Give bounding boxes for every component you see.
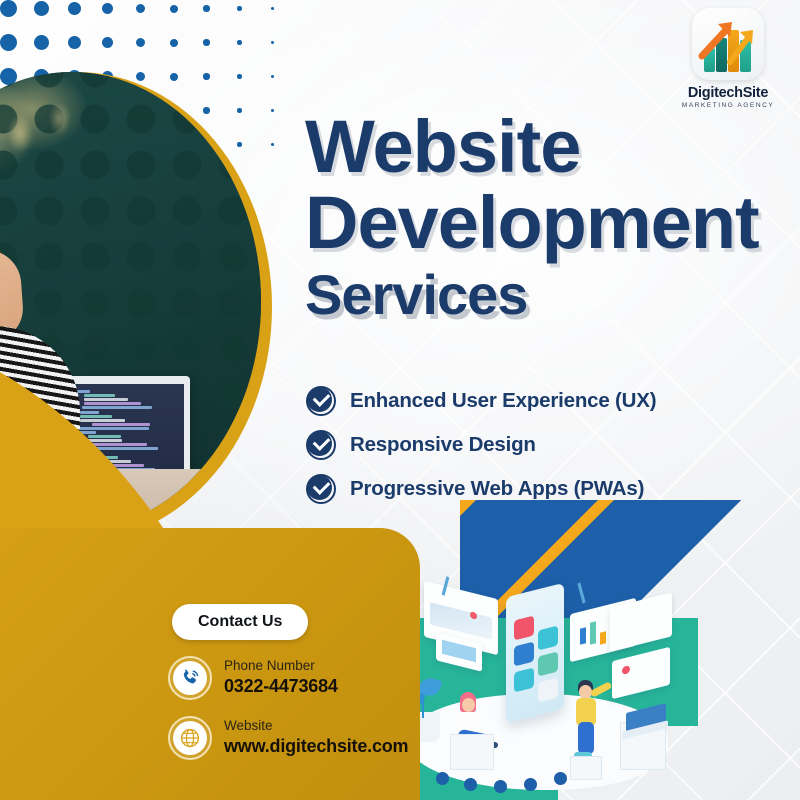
decorative-dot <box>136 38 146 48</box>
decorative-dot <box>271 7 274 10</box>
illustration-dashboard-bar-c <box>600 631 606 644</box>
photo-code-line <box>80 415 112 418</box>
illustration-floor-dot <box>494 780 507 793</box>
decorative-dot <box>136 4 146 14</box>
isometric-web-development-illustration <box>398 566 698 800</box>
decorative-dot <box>34 35 49 50</box>
website-value: www.digitechsite.com <box>224 735 408 758</box>
photo-ceiling-lights <box>0 80 88 200</box>
growth-chart-arrows-icon <box>692 8 764 80</box>
contact-row-website[interactable]: Website www.digitechsite.com <box>168 716 408 760</box>
illustration-man-platform <box>570 756 602 780</box>
decorative-dot <box>34 1 49 16</box>
brand-logo: DigitechSite MARKETING AGENCY <box>672 8 784 109</box>
decorative-dot <box>203 5 209 11</box>
feature-list: Enhanced User Experience (UX) Responsive… <box>306 386 736 518</box>
photo-code-line <box>80 419 125 422</box>
photo-code-line <box>92 423 150 426</box>
page-title: Website Development Services <box>305 112 785 322</box>
decorative-dot <box>0 34 17 51</box>
list-item: Responsive Design <box>306 430 736 460</box>
decorative-dot <box>102 37 114 49</box>
headline-line-3: Services <box>305 269 785 322</box>
headline-line-2: Development <box>305 188 785 258</box>
illustration-plant-stem <box>422 700 424 718</box>
decorative-dot <box>102 3 114 15</box>
decorative-dot <box>237 6 241 10</box>
decorative-dot <box>271 41 274 44</box>
phone-value: 0322-4473684 <box>224 675 338 698</box>
contact-row-phone[interactable]: Phone Number 0322-4473684 <box>168 656 338 700</box>
check-circle-icon <box>306 430 336 460</box>
brand-name: DigitechSite <box>672 85 784 101</box>
photo-code-line <box>88 443 147 446</box>
photo-code-line <box>88 435 121 438</box>
website-label: Website <box>224 718 408 735</box>
headline-line-1: Website <box>305 112 785 182</box>
decorative-dot <box>0 0 17 17</box>
contact-us-badge[interactable]: Contact Us <box>172 604 308 640</box>
check-circle-icon <box>306 386 336 416</box>
logo-arrows-icon <box>692 8 764 80</box>
illustration-dashboard-bar-b <box>590 621 596 644</box>
brand-tagline: MARKETING AGENCY <box>672 102 784 109</box>
decorative-dot <box>170 5 178 13</box>
photo-code-line <box>84 398 128 401</box>
check-circle-icon <box>306 474 336 504</box>
illustration-floor-dot <box>436 772 449 785</box>
feature-label: Responsive Design <box>350 433 536 457</box>
feature-label: Progressive Web Apps (PWAs) <box>350 477 644 501</box>
globe-icon <box>168 716 212 760</box>
phone-label: Phone Number <box>224 658 338 675</box>
photo-code-line <box>84 402 141 405</box>
decorative-dot <box>68 2 81 15</box>
poster-canvas: DigitechSite MARKETING AGENCY Website De… <box>0 0 800 800</box>
illustration-woman-head <box>462 698 475 712</box>
decorative-dot <box>170 39 178 47</box>
illustration-floor-dot <box>464 778 477 791</box>
phone-ringing-icon <box>168 656 212 700</box>
list-item: Enhanced User Experience (UX) <box>306 386 736 416</box>
photo-code-line <box>84 394 115 397</box>
illustration-man-legs <box>578 722 594 754</box>
photo-code-line <box>80 411 99 414</box>
illustration-dashboard-bar-a <box>580 627 586 644</box>
feature-label: Enhanced User Experience (UX) <box>350 389 656 413</box>
illustration-floor-dot <box>554 772 567 785</box>
photo-code-line <box>82 406 152 409</box>
illustration-arrow-up-right <box>577 582 585 603</box>
decorative-dot <box>203 39 209 45</box>
decorative-dot <box>237 40 241 44</box>
illustration-floor-dot <box>524 778 537 791</box>
illustration-woman-seat <box>450 734 494 770</box>
decorative-dot <box>68 36 81 49</box>
photo-code-line <box>78 427 149 430</box>
